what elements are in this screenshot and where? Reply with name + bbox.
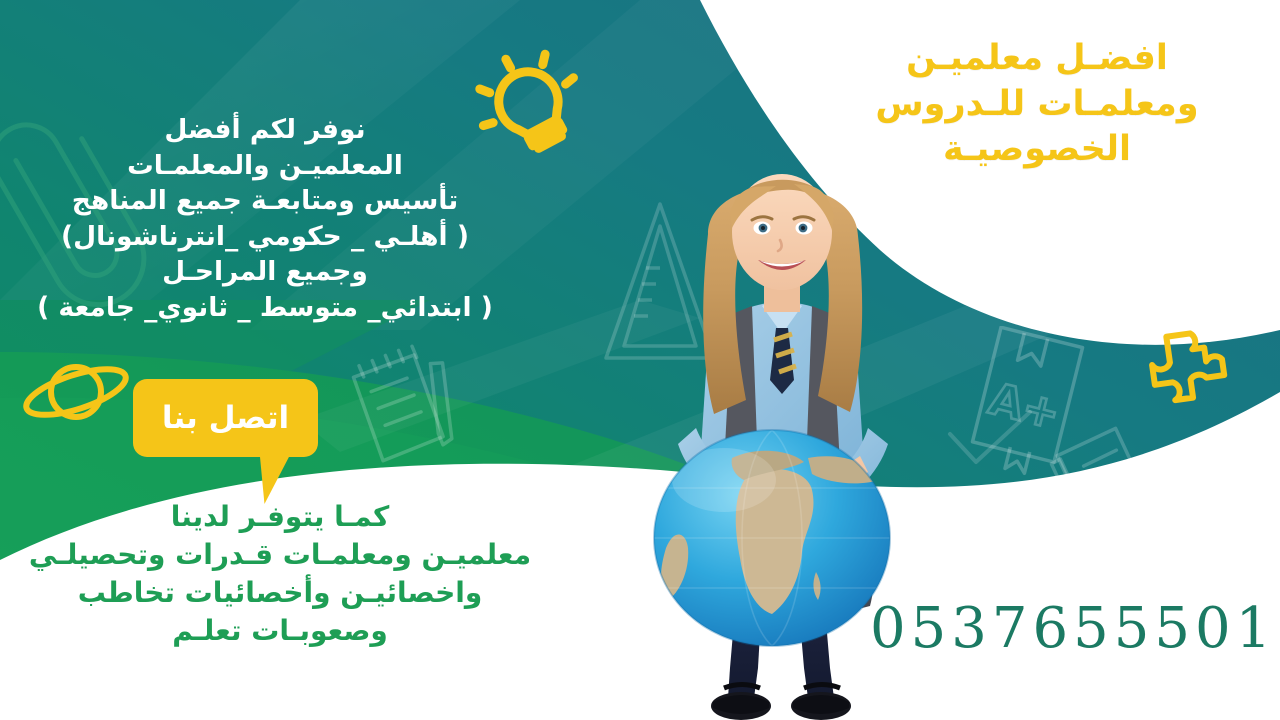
services-line-4: وصعوبـات تعلـم [0, 612, 560, 650]
services-line-1: كمـا يتوفـر لدينا [0, 498, 560, 536]
services-text-block: كمـا يتوفـر لدينا معلميـن ومعلمـات قـدرا… [0, 498, 560, 650]
headline-line-3: الخصوصيـة [822, 127, 1252, 173]
promo-line-3: تأسيس ومتابعـة جميع المناهج [10, 183, 520, 219]
phone-number[interactable]: 0537655501 [870, 596, 1276, 661]
services-line-2: معلميـن ومعلمـات قـدرات وتحصيلـي [0, 536, 560, 574]
headline-line-2: ومعلمـات للـدروس [822, 82, 1252, 128]
promo-line-2: المعلميـن والمعلمـات [10, 148, 520, 184]
contact-us-label: اتصل بنا [162, 400, 289, 436]
promo-line-5: وجميع المراحـل [10, 254, 520, 290]
promo-line-1: نوفر لكم أفضل [10, 112, 520, 148]
promo-line-4: ( أهلـي _ حكومي _انترناشونال) [10, 219, 520, 255]
advertisement-banner: A+ [0, 0, 1280, 720]
contact-us-bubble[interactable]: اتصل بنا [133, 379, 318, 457]
headline: افضـل معلميـن ومعلمـات للـدروس الخصوصيـة [822, 36, 1252, 173]
promo-text-block: نوفر لكم أفضل المعلميـن والمعلمـات تأسيس… [10, 112, 520, 325]
promo-line-6: ( ابتدائي_ متوسط _ ثانوي_ جامعة ) [10, 290, 520, 326]
headline-line-1: افضـل معلميـن [822, 36, 1252, 82]
services-line-3: واخصائيـن وأخصائيات تخاطب [0, 574, 560, 612]
